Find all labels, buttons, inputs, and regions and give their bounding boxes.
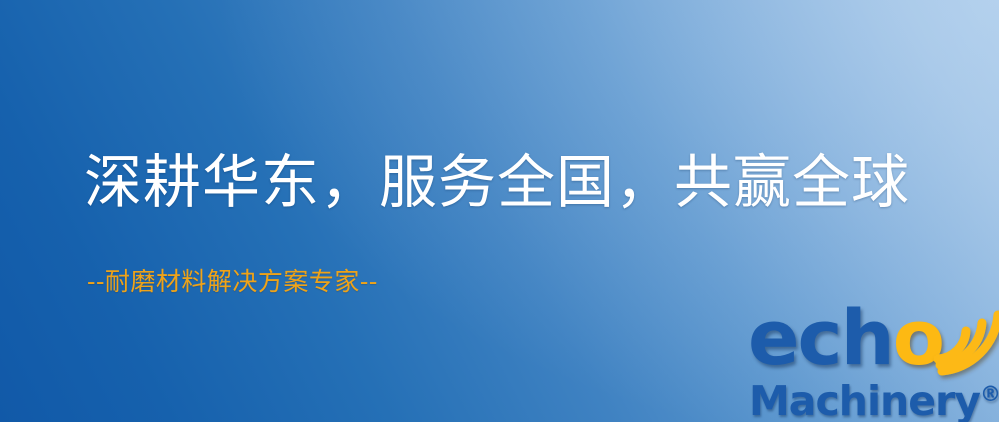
echo-machinery-logo[interactable]: echo Machinery® [744, 300, 999, 422]
logo-tagline-text: Machinery [749, 377, 980, 422]
logo-wordmark-prefix: ech [748, 293, 893, 382]
logo-tagline: Machinery® [749, 374, 999, 422]
banner-subheadline: --耐磨材料解决方案专家-- [87, 266, 378, 297]
registered-trademark-icon: ® [980, 382, 999, 406]
signal-waves-icon [920, 293, 999, 369]
promo-banner: 深耕华东，服务全国，共赢全球 --耐磨材料解决方案专家-- echo Machi… [0, 0, 999, 422]
banner-headline: 深耕华东，服务全国，共赢全球 [84, 148, 910, 216]
logo-wordmark: echo [748, 300, 943, 376]
